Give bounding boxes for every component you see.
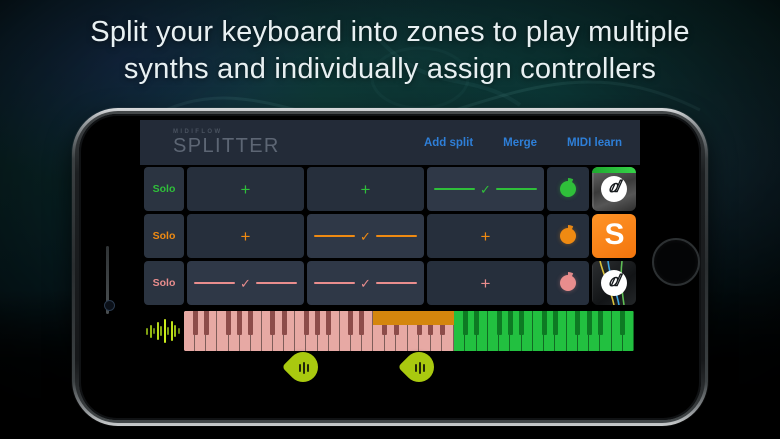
matrix-cell[interactable]: ✓ bbox=[187, 261, 304, 305]
waveform-icon bbox=[142, 317, 184, 345]
route-line-right bbox=[376, 282, 417, 285]
midiflow-logo-icon: ⅆ bbox=[601, 176, 627, 202]
matrix-row: Solo + ✓ + bbox=[140, 214, 640, 258]
route-line-left bbox=[434, 188, 475, 191]
app-screen: MIDIFLOW SPLITTER Add split Merge MIDI l… bbox=[140, 120, 640, 415]
add-route-icon: + bbox=[241, 228, 251, 245]
add-split-button[interactable]: Add split bbox=[424, 137, 473, 149]
matrix-cell[interactable]: + bbox=[307, 167, 424, 211]
zone-cells: + ✓ + bbox=[187, 214, 544, 258]
target-app-icon[interactable]: S bbox=[592, 214, 636, 258]
matrix-cell[interactable]: + bbox=[427, 214, 544, 258]
black-keys bbox=[454, 311, 634, 335]
matrix-cell[interactable]: ✓ bbox=[307, 214, 424, 258]
settings-cell[interactable] bbox=[547, 214, 589, 258]
settings-cell[interactable] bbox=[547, 167, 589, 211]
route-line-left bbox=[314, 282, 355, 285]
midiflow-logo-icon: ⅆ bbox=[601, 270, 627, 296]
solo-label: Solo bbox=[153, 230, 176, 242]
add-route-icon: + bbox=[481, 228, 491, 245]
add-route-icon: + bbox=[361, 181, 371, 198]
app-logo: MIDIFLOW SPLITTER bbox=[173, 129, 280, 156]
solo-label: Solo bbox=[153, 277, 176, 289]
target-app-icon[interactable]: ⅆ bbox=[592, 261, 636, 305]
active-route: ✓ bbox=[187, 277, 304, 290]
check-icon: ✓ bbox=[360, 230, 371, 243]
headline-line-2: synths and individually assign controlle… bbox=[0, 51, 780, 88]
headline-line-1: Split your keyboard into zones to play m… bbox=[0, 14, 780, 51]
icon-top-bar bbox=[592, 167, 636, 173]
active-route: ✓ bbox=[307, 277, 424, 290]
midi-learn-button[interactable]: MIDI learn bbox=[567, 137, 622, 149]
gear-knob-icon[interactable] bbox=[560, 275, 576, 291]
keyboard-strip bbox=[140, 308, 640, 354]
solo-button[interactable]: Solo bbox=[144, 261, 184, 305]
check-icon: ✓ bbox=[240, 277, 251, 290]
matrix-cell[interactable]: + bbox=[187, 167, 304, 211]
zone-cells: ✓ ✓ + bbox=[187, 261, 544, 305]
logo-name: SPLITTER bbox=[173, 136, 280, 156]
zone-mid[interactable] bbox=[373, 311, 454, 351]
toolbar-actions: Add split Merge MIDI learn bbox=[424, 137, 622, 149]
matrix-row: Solo + + ✓ bbox=[140, 167, 640, 211]
route-line-right bbox=[256, 282, 297, 285]
matrix-cell[interactable]: ✓ bbox=[427, 167, 544, 211]
home-button[interactable] bbox=[652, 238, 700, 286]
route-line-left bbox=[194, 282, 235, 285]
page-title: Split your keyboard into zones to play m… bbox=[0, 14, 780, 88]
zone-mid-overlay bbox=[373, 311, 454, 325]
settings-cell[interactable] bbox=[547, 261, 589, 305]
matrix-cell[interactable]: + bbox=[427, 261, 544, 305]
check-icon: ✓ bbox=[360, 277, 371, 290]
handle-grip-icon bbox=[297, 361, 310, 374]
split-handle-2[interactable] bbox=[404, 352, 438, 392]
matrix-cell[interactable]: + bbox=[187, 214, 304, 258]
mute-switch[interactable] bbox=[104, 300, 115, 311]
solo-label: Solo bbox=[153, 183, 176, 195]
route-line-right bbox=[496, 188, 537, 191]
route-line-right bbox=[376, 235, 417, 238]
add-route-icon: + bbox=[481, 275, 491, 292]
target-app-icon[interactable]: ⅆ bbox=[592, 167, 636, 211]
zone-high[interactable] bbox=[454, 311, 634, 351]
add-route-icon: + bbox=[241, 181, 251, 198]
zone-low[interactable] bbox=[184, 311, 373, 351]
merge-button[interactable]: Merge bbox=[503, 137, 537, 149]
route-line-left bbox=[314, 235, 355, 238]
solo-button[interactable]: Solo bbox=[144, 214, 184, 258]
active-route: ✓ bbox=[427, 183, 544, 196]
solo-button[interactable]: Solo bbox=[144, 167, 184, 211]
handle-grip-icon bbox=[413, 361, 426, 374]
gear-knob-icon[interactable] bbox=[560, 181, 576, 197]
zone-keyboard[interactable] bbox=[184, 311, 634, 351]
matrix-row: Solo ✓ ✓ bbox=[140, 261, 640, 305]
app-toolbar: MIDIFLOW SPLITTER Add split Merge MIDI l… bbox=[140, 120, 640, 165]
split-handle-1[interactable] bbox=[288, 352, 322, 392]
matrix-cell[interactable]: ✓ bbox=[307, 261, 424, 305]
zone-cells: + + ✓ bbox=[187, 167, 544, 211]
routing-matrix: Solo + + ✓ bbox=[140, 165, 640, 354]
synth-s-icon: S bbox=[592, 214, 636, 258]
check-icon: ✓ bbox=[480, 183, 491, 196]
promo-screenshot: Split your keyboard into zones to play m… bbox=[0, 0, 780, 439]
active-route: ✓ bbox=[307, 230, 424, 243]
black-keys bbox=[184, 311, 373, 335]
gear-knob-icon[interactable] bbox=[560, 228, 576, 244]
